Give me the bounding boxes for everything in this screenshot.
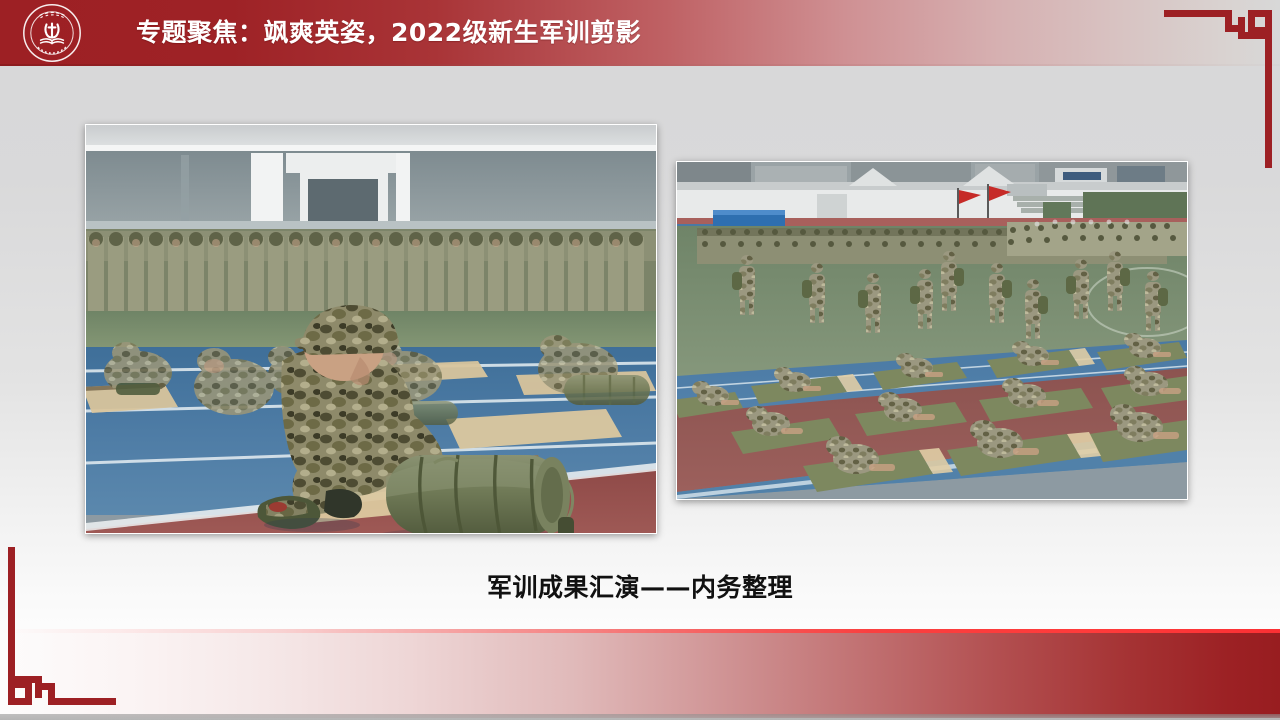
corner-ornament-top-right-icon — [1164, 0, 1280, 173]
presentation-slide: 专题聚焦：飒爽英姿，2022级新生军训剪影 — [0, 0, 1280, 720]
page-title: 专题聚焦：飒爽英姿，2022级新生军训剪影 — [136, 13, 641, 49]
photo-right-content — [677, 162, 1187, 499]
slide-bottom-edge — [0, 714, 1280, 720]
university-seal-logo — [22, 3, 82, 63]
photo-military-training-formation[interactable] — [676, 161, 1188, 500]
slide-caption: 军训成果汇演——内务整理 — [0, 568, 1280, 604]
footer-highlight-line — [0, 629, 1280, 633]
photo-left-content — [86, 125, 656, 533]
photo-military-training-bedroll[interactable] — [85, 124, 657, 534]
footer-band — [0, 629, 1280, 718]
corner-ornament-bottom-left-icon — [0, 547, 116, 720]
